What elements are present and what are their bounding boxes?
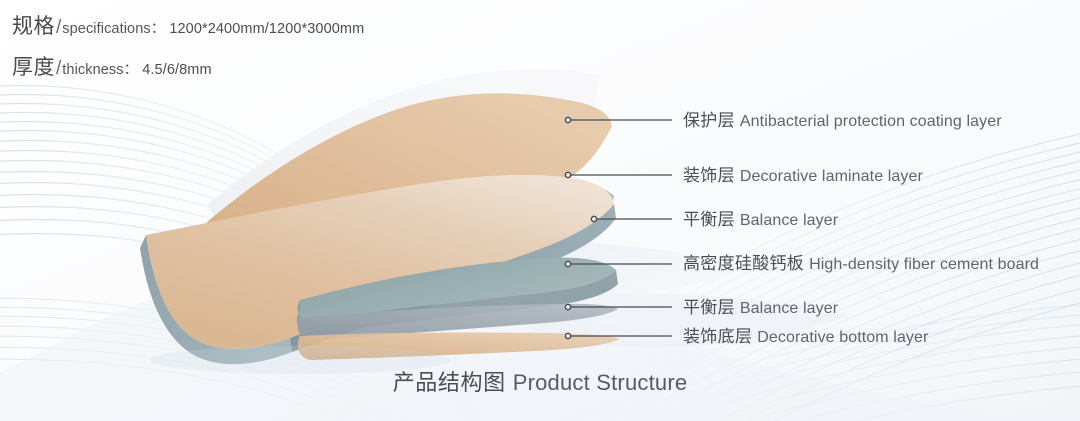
callout-decorative-bottom-latin: Decorative bottom layer — [757, 329, 928, 346]
callout-balance-upper: 平衡层Balance layer — [683, 211, 838, 229]
board-top-face — [146, 175, 614, 349]
thickness-value: 4.5/6/8mm — [142, 62, 211, 78]
diagram-caption-latin: Product Structure — [513, 370, 688, 395]
specification-value: 1200*2400mm/1200*3000mm — [169, 21, 364, 37]
callout-balance-lower-cjk: 平衡层 — [683, 298, 735, 317]
callout-balance-upper-latin: Balance layer — [740, 212, 838, 229]
callout-protection-coating: 保护层Antibacterial protection coating laye… — [683, 112, 1002, 130]
leader-dot-decorative-bottom — [565, 333, 570, 338]
diagram-caption: 产品结构图Product Structure — [0, 372, 1080, 394]
callout-decorative-bottom-cjk: 装饰底层 — [683, 327, 752, 346]
thickness-label-cjk: 厚度 — [12, 56, 55, 79]
diagram-caption-cjk: 产品结构图 — [393, 370, 506, 395]
layer-cement-core-wedge — [298, 258, 616, 321]
callout-decorative-laminate-cjk: 装饰层 — [683, 166, 735, 185]
leader-dot-balance-upper — [591, 216, 596, 221]
specification-label-cjk: 规格 — [12, 15, 55, 38]
callout-protection-coating-latin: Antibacterial protection coating layer — [740, 113, 1002, 130]
layer-balance-lower — [298, 304, 618, 340]
board-front-edge — [140, 235, 292, 364]
thickness-label-latin: thickness： — [62, 62, 138, 78]
layer-balance-upper — [316, 184, 614, 327]
board-right-edge — [290, 204, 616, 352]
leader-dot-fiber-cement-board — [565, 261, 570, 266]
callout-balance-lower-latin: Balance layer — [740, 300, 838, 317]
callout-fiber-cement-board-cjk: 高密度硅酸钙板 — [683, 254, 804, 273]
specification-label-latin: specifications： — [62, 21, 165, 37]
layer-decorative-laminate — [200, 93, 612, 298]
callout-fiber-cement-board-latin: High-density fiber cement board — [809, 256, 1039, 273]
specification-slash: / — [56, 17, 61, 38]
layer-protection-coating — [207, 69, 600, 255]
leader-dot-protection-coating — [565, 117, 570, 122]
layer-cement-core-edge — [297, 270, 618, 334]
callout-decorative-laminate: 装饰层Decorative laminate layer — [683, 167, 923, 185]
callout-decorative-bottom: 装饰底层Decorative bottom layer — [683, 328, 928, 346]
callout-balance-upper-cjk: 平衡层 — [683, 210, 735, 229]
layer-decorative-bottom — [298, 332, 620, 360]
leader-dot-balance-lower — [565, 304, 570, 309]
callout-protection-coating-cjk: 保护层 — [683, 111, 735, 130]
specification-row: 规格/specifications：1200*2400mm/1200*3000m… — [12, 16, 364, 37]
callout-fiber-cement-board: 高密度硅酸钙板High-density fiber cement board — [683, 255, 1039, 273]
callout-balance-lower: 平衡层Balance layer — [683, 299, 838, 317]
product-structure-diagram: 规格/specifications：1200*2400mm/1200*3000m… — [0, 0, 1080, 421]
thickness-row: 厚度/thickness：4.5/6/8mm — [12, 57, 212, 78]
callout-decorative-laminate-latin: Decorative laminate layer — [740, 168, 923, 185]
leader-dot-decorative-laminate — [565, 172, 570, 177]
thickness-slash: / — [56, 58, 61, 79]
